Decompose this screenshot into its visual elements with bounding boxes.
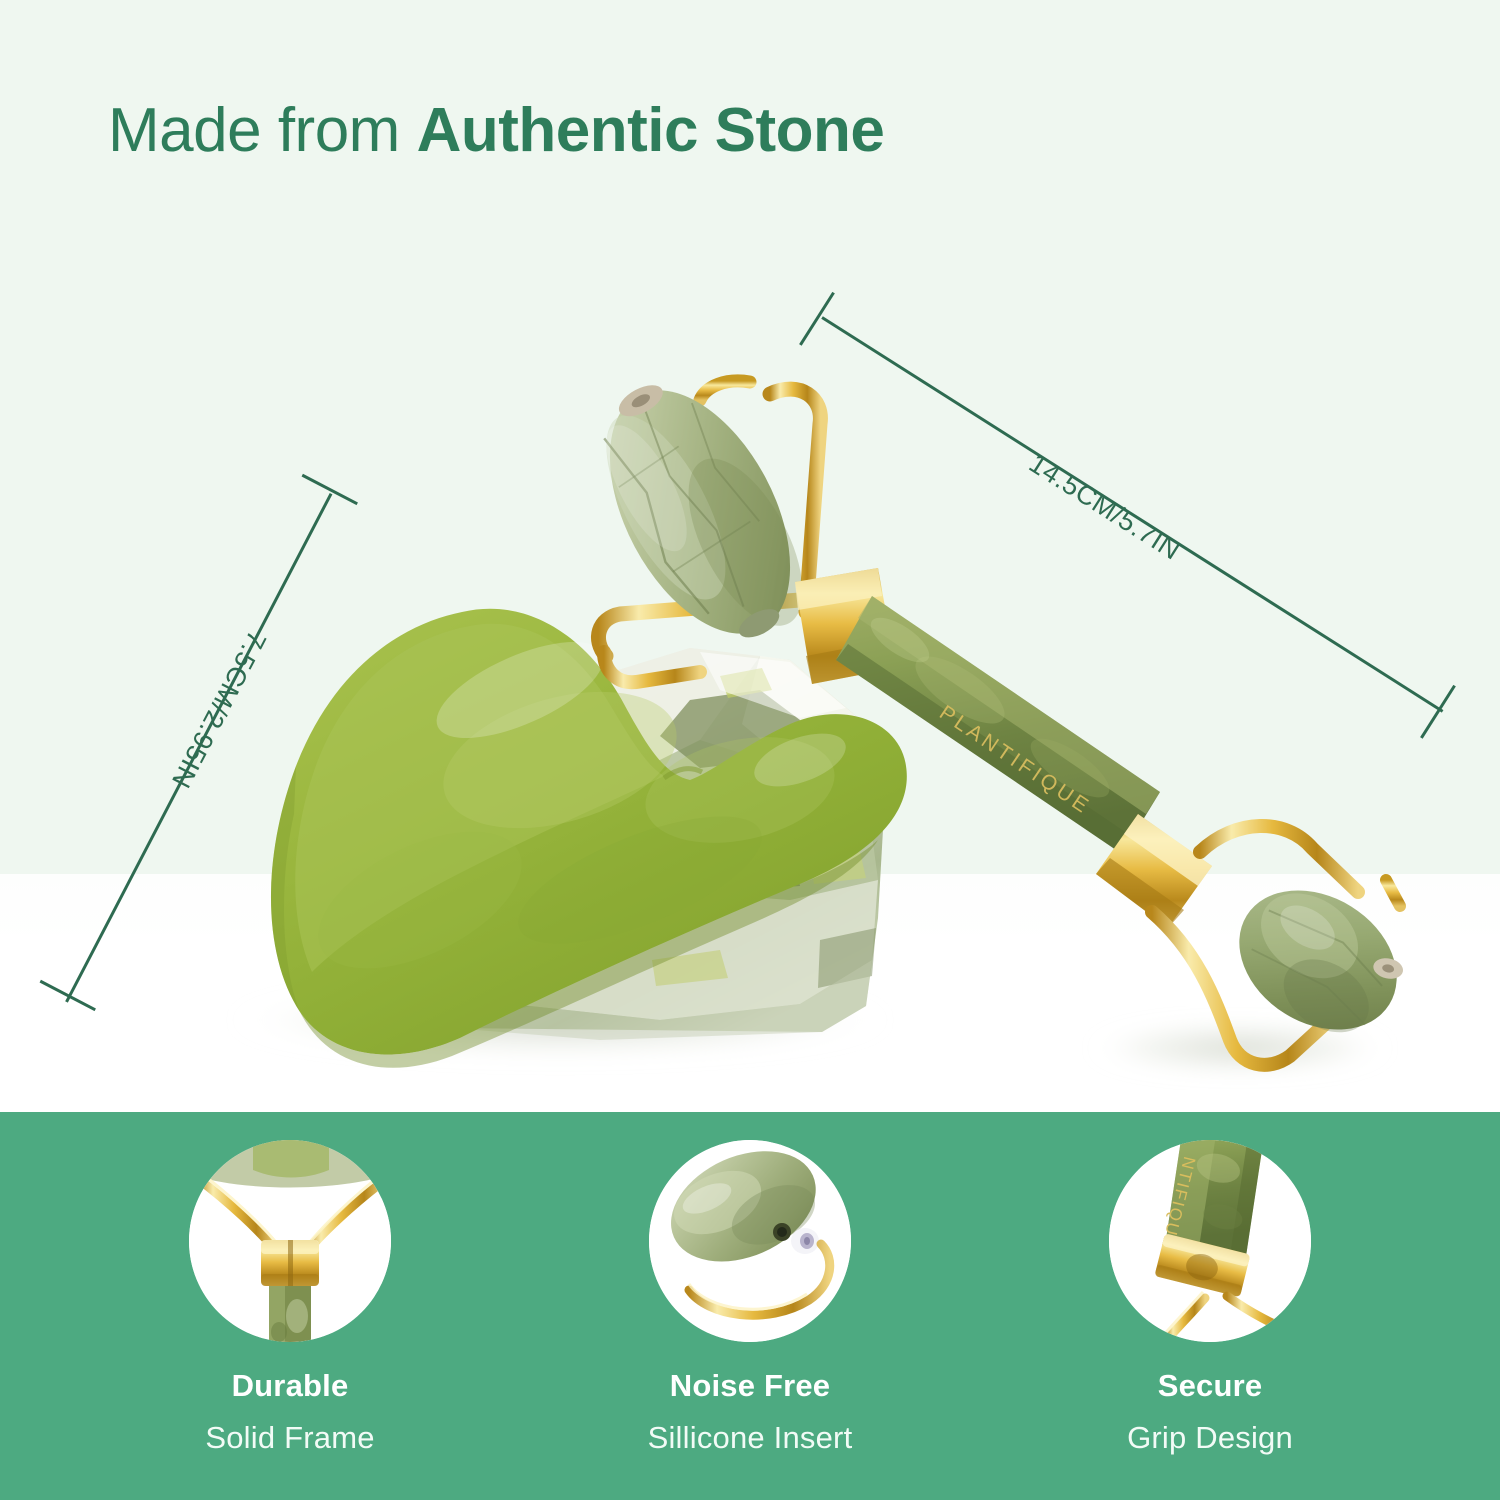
- feature-subtitle: Sillicone Insert: [648, 1420, 853, 1456]
- frame-joint-closeup-icon: [189, 1140, 391, 1342]
- feature-list: Durable Solid Frame: [0, 1112, 1500, 1500]
- feature-title: Durable: [232, 1368, 349, 1404]
- product-photograph: PLANTIFIQUE: [0, 0, 1500, 1120]
- product-infographic: Made from Authentic Stone: [0, 0, 1500, 1500]
- feature-subtitle: Solid Frame: [205, 1420, 374, 1456]
- feature-title: Noise Free: [670, 1368, 831, 1404]
- feature-item-noise-free: Noise Free Sillicone Insert: [520, 1112, 980, 1456]
- silicone-insert-closeup-icon: [649, 1140, 851, 1342]
- feature-title: Secure: [1158, 1368, 1263, 1404]
- feature-item-durable: Durable Solid Frame: [60, 1112, 520, 1456]
- feature-subtitle: Grip Design: [1127, 1420, 1293, 1456]
- grip-handle-closeup-icon: NTIFIQUE: [1109, 1140, 1311, 1342]
- feature-item-secure: NTIFIQUE Secure Grip Design: [980, 1112, 1440, 1456]
